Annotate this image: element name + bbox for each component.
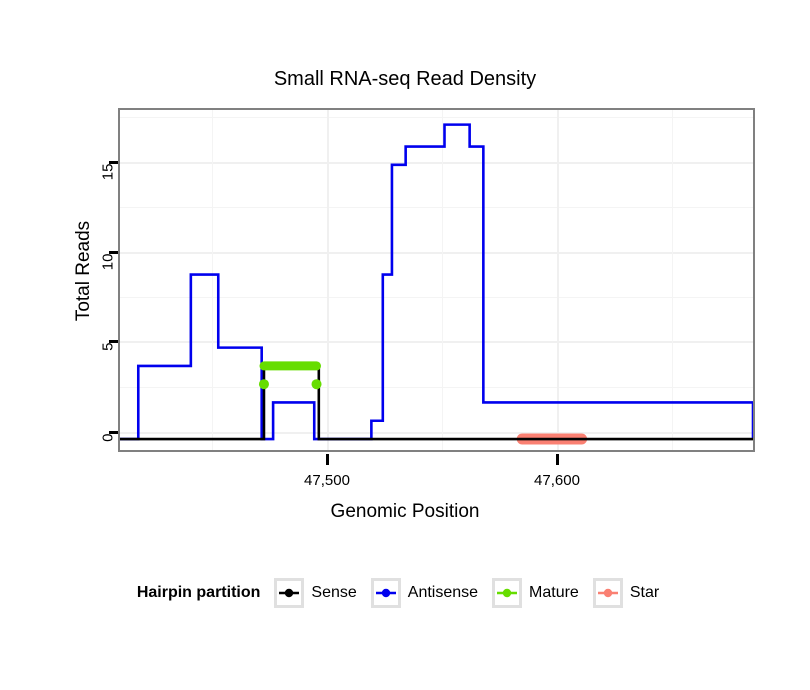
legend-label-mature: Mature [529,584,579,602]
plot-panel[interactable] [118,108,755,452]
y-tick-mark-15 [109,161,118,164]
x-tick-label-47600: 47,600 [507,472,607,489]
y-axis-title: Total Reads [73,201,95,341]
line-point-icon [375,582,397,604]
y-tick-label-15: 15 [100,164,117,204]
legend-entry-star[interactable]: Star [593,578,659,608]
legend-label-sense: Sense [311,584,356,602]
series-antisense-line [120,125,753,439]
y-tick-mark-0 [109,431,118,434]
chart-figure: Small RNA-seq Read Density Total Reads 0… [0,0,810,690]
line-point-icon [278,582,300,604]
plot-area [120,110,753,450]
y-tick-mark-10 [109,251,118,254]
legend-label-star: Star [630,584,659,602]
x-tick-mark-47600 [556,454,559,465]
legend-entry-antisense[interactable]: Antisense [371,578,478,608]
legend: Hairpin partition Sense Antisense [0,578,810,608]
series-mature-point-left [259,379,269,389]
page-title: Small RNA-seq Read Density [0,68,810,91]
legend-title: Hairpin partition [137,584,261,602]
y-tick-label-0: 0 [100,434,117,464]
x-tick-label-47500: 47,500 [277,472,377,489]
legend-entry-mature[interactable]: Mature [492,578,579,608]
legend-entry-sense[interactable]: Sense [274,578,356,608]
x-tick-mark-47500 [326,454,329,465]
line-point-icon [597,582,619,604]
legend-key-sense [274,578,304,608]
legend-key-antisense [371,578,401,608]
legend-label-antisense: Antisense [408,584,478,602]
y-tick-label-5: 5 [100,343,117,373]
x-axis-title: Genomic Position [0,501,810,523]
legend-key-star [593,578,623,608]
legend-key-mature [492,578,522,608]
y-tick-mark-5 [109,340,118,343]
series-layer [120,110,753,450]
series-mature-point-right [312,379,322,389]
line-point-icon [496,582,518,604]
y-tick-label-10: 10 [100,254,117,294]
